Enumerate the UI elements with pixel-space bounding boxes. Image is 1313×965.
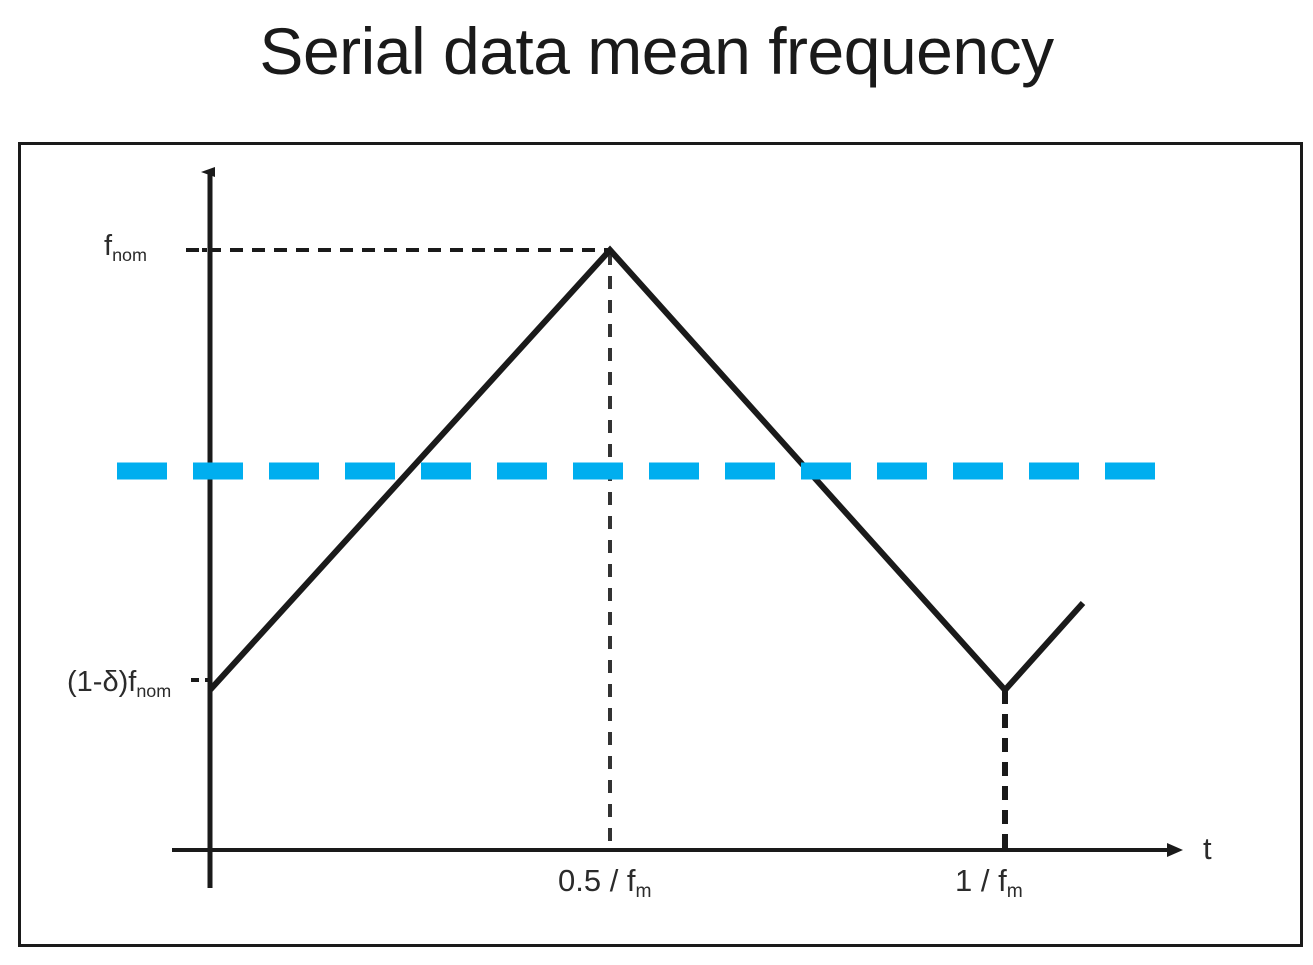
figure-frame — [18, 142, 1303, 947]
subscript-m-one: m — [1007, 881, 1023, 902]
figure-page: Serial data mean frequency — [0, 0, 1313, 965]
subscript-m-half: m — [636, 881, 652, 902]
page-title: Serial data mean frequency — [0, 18, 1313, 84]
y-tick-label-fnom: fnom — [104, 232, 147, 261]
subscript-nom: nom — [112, 245, 147, 265]
y-tick-label-one-minus-delta-fnom: (1-δ)fnom — [67, 668, 171, 697]
x-axis-label: t — [1203, 833, 1212, 864]
x-tick-label-one-over-fm: 1 / fm — [955, 865, 1023, 896]
subscript-nom-lower: nom — [136, 681, 171, 701]
x-tick-label-half-over-fm: 0.5 / fm — [558, 865, 652, 896]
